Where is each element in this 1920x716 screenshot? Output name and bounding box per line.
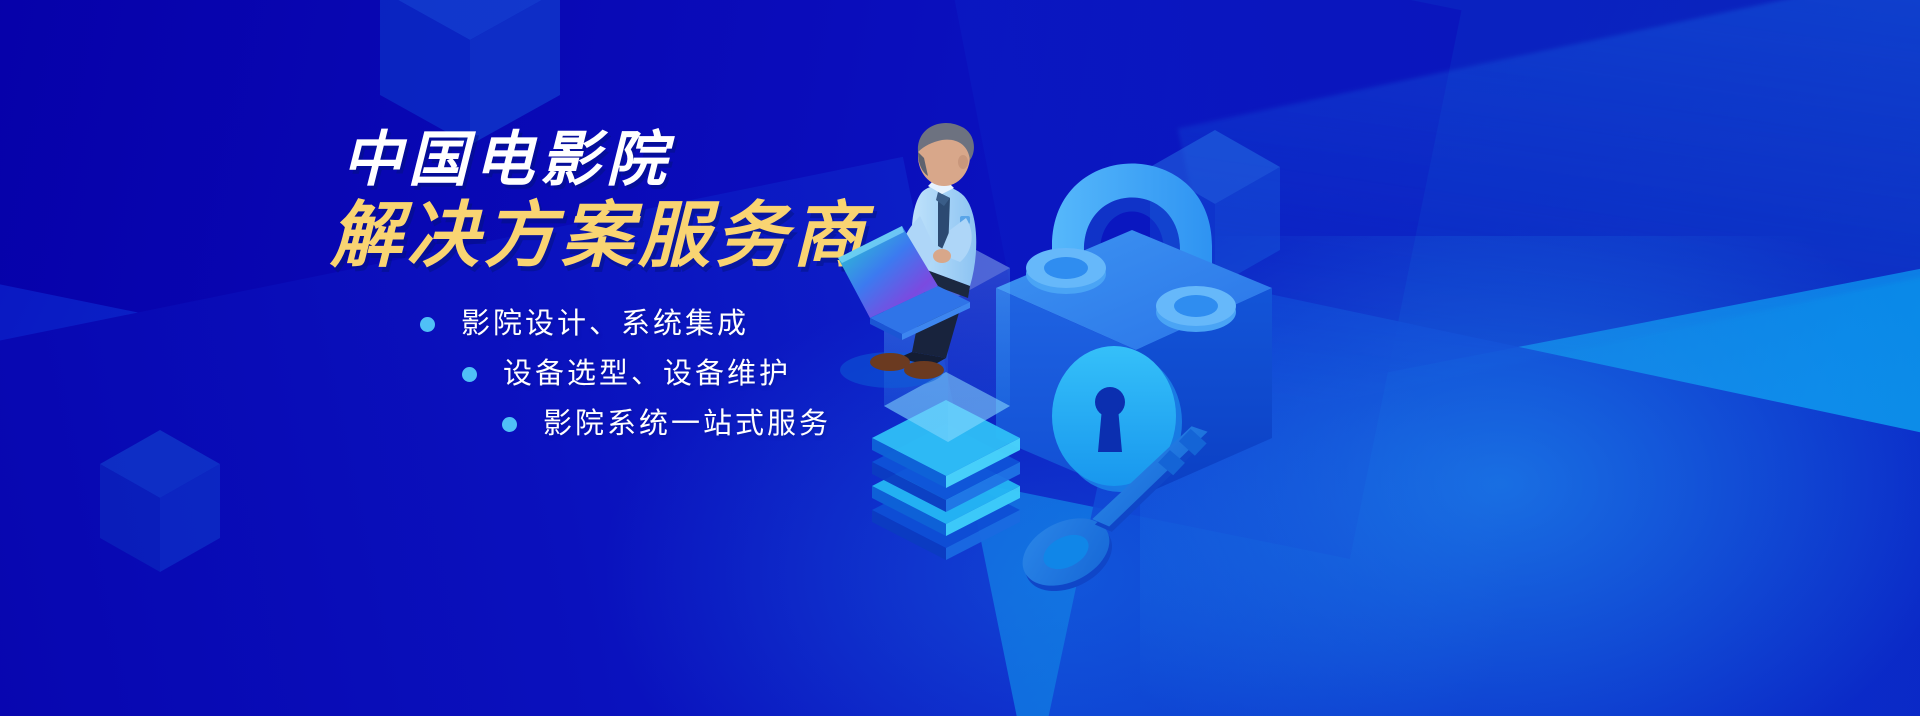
shoe xyxy=(870,353,910,371)
bullet-dot-icon xyxy=(502,417,517,432)
isometric-scene xyxy=(820,40,1460,660)
decorative-cube-bottom-left xyxy=(100,430,220,575)
hero-banner: 中国电影院 解决方案服务商 影院设计、系统集成 设备选型、设备维护 影院系统一站… xyxy=(0,0,1920,716)
security-illustration xyxy=(820,40,1460,660)
shoe xyxy=(904,361,944,379)
bullet-dot-icon xyxy=(462,367,477,382)
bullet-dot-icon xyxy=(420,317,435,332)
list-item-label: 设备选型、设备维护 xyxy=(503,360,791,389)
list-item-label: 影院系统一站式服务 xyxy=(543,410,831,439)
list-item-label: 影院设计、系统集成 xyxy=(461,310,749,339)
